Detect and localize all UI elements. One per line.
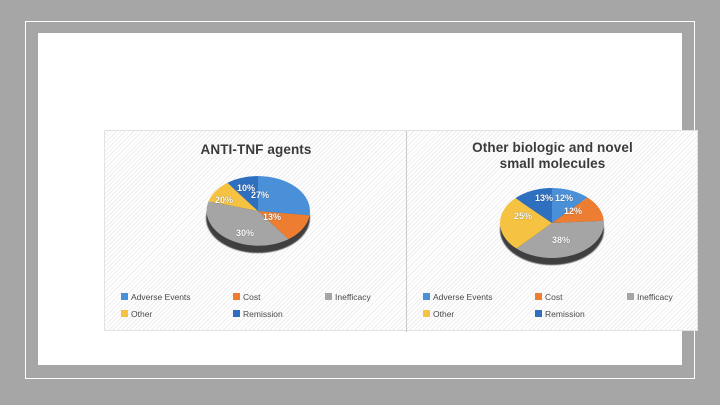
legend-label-other: Other	[131, 309, 152, 319]
legend-item-other[interactable]: Other	[121, 309, 233, 319]
pie-disc	[206, 176, 310, 246]
chart-title-right-line2: small molecules	[407, 156, 698, 172]
legend-item-cost[interactable]: Cost	[535, 292, 627, 302]
pie-label-adverse-events: 12%	[555, 193, 573, 203]
presentation-slide-frame: ANTI-TNF agents	[0, 0, 720, 405]
legend-swatch-icon-other	[423, 310, 430, 317]
legend-swatch-icon-cost	[233, 293, 240, 300]
legend-swatch-icon-inefficacy	[627, 293, 634, 300]
pie-label-other: 25%	[514, 211, 532, 221]
pie-label-inefficacy: 38%	[552, 235, 570, 245]
legend-item-inefficacy[interactable]: Inefficacy	[325, 292, 371, 302]
pie-label-inefficacy: 30%	[236, 228, 254, 238]
chart-legend-right[interactable]: Adverse Events Cost Inefficacy	[407, 288, 698, 322]
legend-swatch-icon-cost	[535, 293, 542, 300]
pie-label-remission: 10%	[237, 183, 255, 193]
legend-item-other[interactable]: Other	[423, 309, 535, 319]
legend-row: Other Remission	[423, 305, 682, 322]
legend-label-cost: Cost	[545, 292, 562, 302]
pie-label-other: 20%	[215, 195, 233, 205]
pie-chart-anti-tnf-agents[interactable]: 27% 13% 30% 20% 10%	[205, 171, 313, 263]
legend-swatch-icon-adverse-events	[121, 293, 128, 300]
legend-row: Adverse Events Cost Inefficacy	[423, 288, 682, 305]
chart-panel-anti-tnf-agents[interactable]: ANTI-TNF agents	[105, 131, 407, 332]
legend-swatch-icon-remission	[535, 310, 542, 317]
legend-swatch-icon-remission	[233, 310, 240, 317]
chart-legend-left[interactable]: Adverse Events Cost Inefficacy	[105, 288, 407, 322]
legend-swatch-icon-adverse-events	[423, 293, 430, 300]
legend-item-adverse-events[interactable]: Adverse Events	[121, 292, 233, 302]
legend-label-remission: Remission	[243, 309, 283, 319]
legend-swatch-icon-other	[121, 310, 128, 317]
pie-label-remission: 13%	[535, 193, 553, 203]
legend-label-adverse-events: Adverse Events	[433, 292, 493, 302]
chart-title-left: ANTI-TNF agents	[105, 142, 407, 158]
legend-item-remission[interactable]: Remission	[535, 309, 627, 319]
legend-row: Other Remission	[121, 305, 391, 322]
pie-label-cost: 13%	[263, 212, 281, 222]
pie-chart-other-biologic-and-novel-small-molecules[interactable]: 12% 12% 38% 25% 13%	[499, 183, 607, 275]
legend-label-inefficacy: Inefficacy	[637, 292, 673, 302]
slide-canvas: ANTI-TNF agents	[38, 33, 682, 365]
legend-item-remission[interactable]: Remission	[233, 309, 325, 319]
legend-label-cost: Cost	[243, 292, 260, 302]
legend-label-remission: Remission	[545, 309, 585, 319]
legend-row: Adverse Events Cost Inefficacy	[121, 288, 391, 305]
legend-item-cost[interactable]: Cost	[233, 292, 325, 302]
legend-label-inefficacy: Inefficacy	[335, 292, 371, 302]
chart-object[interactable]: ANTI-TNF agents	[104, 130, 698, 331]
legend-item-adverse-events[interactable]: Adverse Events	[423, 292, 535, 302]
legend-item-inefficacy[interactable]: Inefficacy	[627, 292, 673, 302]
chart-title-right-line1: Other biologic and novel	[407, 140, 698, 156]
legend-label-other: Other	[433, 309, 454, 319]
pie-slices-svg	[206, 176, 310, 246]
legend-swatch-icon-inefficacy	[325, 293, 332, 300]
legend-label-adverse-events: Adverse Events	[131, 292, 191, 302]
pie-label-cost: 12%	[564, 206, 582, 216]
chart-title-right: Other biologic and novel small molecules	[407, 140, 698, 172]
chart-panel-other-biologic-and-novel-small-molecules[interactable]: Other biologic and novel small molecules	[407, 131, 698, 332]
